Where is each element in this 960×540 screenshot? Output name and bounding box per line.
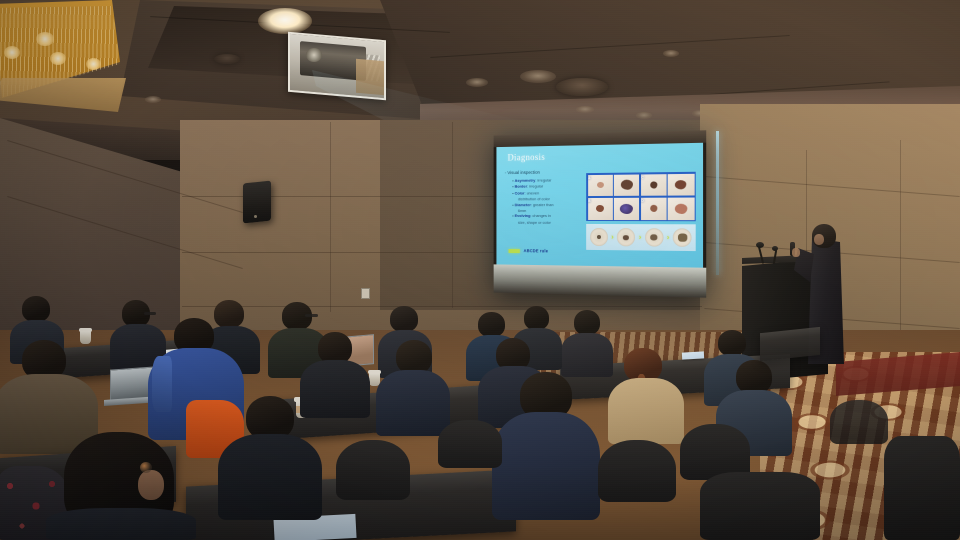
bullet-term: Asymmetry: [515, 178, 536, 183]
bullet-term: Evolving: [515, 213, 531, 218]
lesion-image-cell: A: [588, 174, 613, 196]
lesion-image-grid: A C B: [586, 172, 696, 221]
projection-screen: Diagnosis - Visual inspection • Asymmetr…: [494, 130, 707, 297]
presenter-hand: [792, 248, 800, 257]
microphone-icon: [756, 242, 764, 248]
jacket-sleeve: [152, 356, 172, 412]
projector-mount-plate: [356, 59, 384, 95]
wall-panel-seam: [182, 306, 702, 307]
attendee-body: [218, 434, 322, 520]
grid-letter-d: D: [641, 199, 643, 203]
lesion-image-cell: [614, 198, 639, 220]
coffee-cup: [80, 330, 91, 344]
chandelier-bulb: [86, 58, 101, 70]
chair: [700, 472, 820, 540]
lesion-image-cell: C: [641, 174, 667, 196]
ceiling-downlight: [520, 70, 556, 83]
bullet-desc: : greater than: [531, 202, 554, 207]
wall-panel-seam: [900, 140, 901, 350]
ceiling-downlight: [145, 96, 161, 103]
attendee-body: [46, 508, 196, 540]
chevron-right-icon: ›: [611, 234, 613, 241]
ceiling-downlight: [466, 78, 488, 87]
attendee-body: [376, 370, 450, 436]
pa-speaker-icon: [243, 181, 271, 224]
ceiling-downlight: [576, 106, 594, 113]
lesion-image-cell: [614, 174, 639, 196]
lesion-icon: [650, 234, 657, 240]
highlight-marker-icon: [509, 249, 520, 253]
chevron-right-icon: ›: [667, 234, 669, 241]
lesion-icon: [675, 180, 686, 189]
bullet-term: Border: [515, 184, 527, 189]
slide-surface: Diagnosis - Visual inspection • Asymmetr…: [496, 143, 703, 268]
lesion-icon: [650, 181, 657, 188]
attendee-head: [396, 340, 432, 374]
attendee-body: [300, 360, 370, 418]
lesion-icon: [597, 235, 601, 239]
presenter-face: [814, 234, 824, 245]
lesion-icon: [620, 204, 633, 214]
chandelier-bulb: [50, 52, 66, 65]
lesion-image-cell: [668, 173, 694, 196]
lesion-image-cell: [668, 197, 694, 219]
chair: [598, 440, 676, 502]
abcde-rule-label: ABCDE rule: [524, 248, 548, 253]
screen-bottom-bar: [494, 264, 707, 297]
evolution-stage: [617, 228, 635, 246]
pa-speaker-led: [254, 215, 257, 218]
wall-light-strip: [716, 131, 719, 275]
wall-panel-seam: [452, 122, 453, 308]
lesion-icon: [621, 180, 633, 190]
lesion-icon: [596, 205, 604, 212]
attendee-head: [214, 300, 244, 328]
lesion-icon: [623, 235, 629, 240]
microphone-icon: [772, 246, 778, 251]
bullet-term: Diameter: [515, 202, 531, 207]
attendee-body: [492, 412, 600, 520]
bullet-continuation: size, shape or color: [512, 220, 581, 226]
lesion-icon: [597, 182, 604, 188]
ceiling-downlight: [663, 50, 679, 57]
attendee-head: [22, 296, 50, 322]
wall-panel-seam: [330, 122, 331, 312]
bullet-desc: : irregular: [535, 178, 551, 183]
bullet-desc: : changes in: [530, 213, 551, 218]
chevron-right-icon: ›: [639, 234, 641, 241]
grid-letter-a: A: [588, 176, 590, 180]
attendee-head: [478, 312, 505, 337]
attendee-head: [574, 310, 600, 335]
chandelier-bulb: [4, 46, 20, 59]
ceiling-air-vent: [214, 54, 240, 64]
paper: [682, 351, 704, 359]
attendee-face: [138, 470, 164, 500]
bullet-desc: : uneven: [525, 190, 540, 195]
evolution-stage: [645, 228, 663, 246]
chair: [884, 436, 960, 540]
cup-lid: [368, 370, 381, 374]
attendee-head: [390, 306, 418, 332]
evolution-stage: [673, 228, 692, 247]
slide-title: Diagnosis: [508, 152, 545, 162]
attendee-body: [561, 333, 613, 377]
eyeglasses-icon: [305, 314, 318, 317]
ceiling-downlight: [636, 112, 652, 119]
lesion-icon: [675, 203, 687, 213]
chair: [438, 420, 502, 468]
evolution-stage: [590, 228, 608, 246]
lesion-image-cell: D: [641, 197, 667, 219]
lesion-evolution-row: › › ›: [586, 224, 696, 251]
abcde-rule-row: ABCDE rule: [509, 248, 549, 253]
bullet-desc: : irregular: [527, 184, 543, 189]
attendee-head: [736, 360, 772, 394]
lesion-image-cell: B: [588, 198, 613, 220]
grid-letter-c: C: [641, 175, 643, 179]
slide-bullet-list: • Asymmetry: irregular • Border: irregul…: [512, 177, 581, 225]
cup-lid: [79, 328, 92, 332]
eyeglasses-icon: [144, 312, 156, 315]
chandelier-bulb: [36, 32, 54, 46]
attendee-body: [608, 378, 684, 444]
slide-subheading: - Visual inspection: [505, 170, 540, 175]
ceiling-downlight: [258, 8, 312, 34]
grid-letter-b: B: [588, 199, 590, 203]
lesion-icon: [650, 205, 657, 212]
projector-lens-icon: [306, 48, 322, 62]
wall-outlet-small[interactable]: [361, 288, 370, 299]
lesion-icon: [678, 233, 687, 241]
bullet-term: Color: [515, 190, 525, 195]
attendee-head: [718, 330, 746, 356]
eyeglasses-icon: [140, 462, 152, 473]
conference-room-photo: Diagnosis - Visual inspection • Asymmetr…: [0, 0, 960, 540]
chair: [336, 440, 410, 500]
ceiling-air-vent: [556, 78, 608, 96]
chair: [830, 400, 888, 444]
attendee-head: [524, 306, 549, 330]
